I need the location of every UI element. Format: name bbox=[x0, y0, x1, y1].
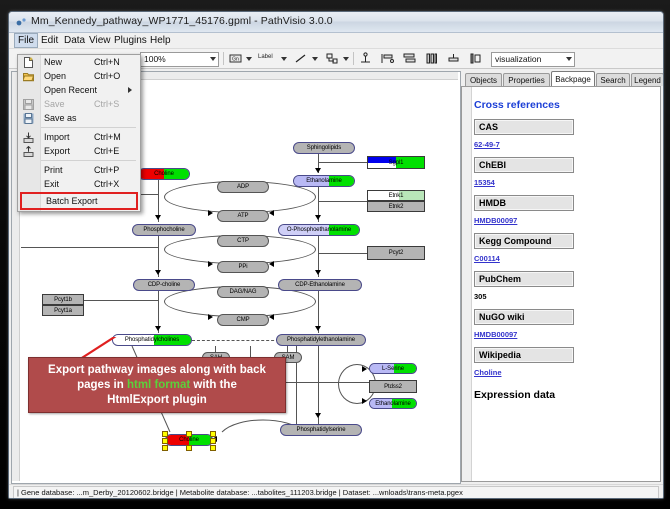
node-label: DAG/NAG bbox=[230, 289, 257, 295]
statusbar-text: | Gene database: ...m_Derby_20120602.bri… bbox=[13, 486, 659, 499]
side-panel-tabstrip: Objects Properties Backpage Search Legen… bbox=[461, 71, 661, 86]
node-label: Phosphocholine bbox=[143, 227, 184, 233]
node-label: CTP bbox=[237, 238, 249, 244]
annotation-callout: Export pathway images along with back pa… bbox=[28, 357, 286, 413]
node-label: Phosphatidylethanolamine bbox=[287, 337, 355, 343]
arrowhead bbox=[315, 413, 321, 418]
menu-item-exit-label: Exit bbox=[44, 179, 59, 189]
chevron-down-icon bbox=[210, 57, 216, 61]
open-folder-icon bbox=[23, 71, 34, 82]
svg-text:Gn: Gn bbox=[232, 57, 239, 63]
new-document-icon bbox=[23, 57, 34, 68]
menu-item-save-as[interactable]: Save as bbox=[18, 111, 140, 125]
annotation-line-2a: pages in bbox=[77, 379, 127, 391]
node-label: CMP bbox=[236, 317, 249, 323]
xref-db-wikipedia: Wikipedia bbox=[474, 347, 574, 363]
selection-handle[interactable] bbox=[210, 445, 216, 451]
visualization-value: visualization bbox=[495, 54, 541, 64]
gene-label: Etnk1 bbox=[389, 193, 404, 199]
arrowhead bbox=[269, 261, 274, 267]
menu-item-save: Save Ctrl+S bbox=[18, 97, 140, 111]
pathvisio-app-icon bbox=[15, 16, 27, 28]
edge-pc-pe-dashed bbox=[192, 340, 284, 341]
node-label: Sphingolipids bbox=[307, 145, 341, 151]
selection-handle[interactable] bbox=[162, 445, 168, 451]
edge-left-stub-2 bbox=[21, 247, 158, 248]
window-title: Mm_Kennedy_pathway_WP1771_45176.gpml - P… bbox=[31, 15, 333, 27]
arrowhead bbox=[208, 314, 213, 320]
gene-label: Pcyt1b bbox=[54, 297, 72, 303]
menu-item-new-label: New bbox=[44, 57, 62, 67]
distribute-tool-icon[interactable] bbox=[424, 51, 439, 66]
export-icon bbox=[23, 146, 34, 157]
arrowhead bbox=[315, 168, 321, 173]
node-label: L-Serine bbox=[382, 366, 404, 372]
backpage-content: Cross references CAS 62-49-7 ChEBI 15354… bbox=[461, 86, 661, 482]
gene-label: Etnk2 bbox=[389, 204, 404, 210]
gene-label: Sgpl1 bbox=[389, 160, 404, 166]
chevron-down-icon-2 bbox=[566, 57, 572, 61]
node-cdp-choline[interactable]: CDP-choline bbox=[133, 279, 195, 291]
edge-gene-etnk bbox=[318, 201, 367, 202]
menu-item-save-as-label: Save as bbox=[44, 113, 77, 123]
node-label: Phosphatidylserine bbox=[297, 427, 346, 433]
menu-item-export-label: Export bbox=[44, 146, 70, 156]
menu-item-import-shortcut: Ctrl+M bbox=[94, 132, 121, 142]
group-tool-icon[interactable] bbox=[446, 51, 461, 66]
zoom-value: 100% bbox=[144, 54, 166, 64]
label-tool-label[interactable]: Label bbox=[258, 54, 273, 60]
toolbar-separator-2 bbox=[353, 52, 354, 65]
arrowhead bbox=[362, 398, 367, 404]
node-label: CDP-choline bbox=[148, 282, 181, 288]
tab-objects[interactable]: Objects bbox=[465, 73, 502, 86]
xref-value-chebi[interactable]: 15354 bbox=[474, 178, 660, 187]
gene-etnk1[interactable]: Etnk1 bbox=[367, 190, 425, 201]
gene-pcyt2[interactable]: Pcyt2 bbox=[367, 246, 425, 260]
node-ppi[interactable]: PPi bbox=[217, 261, 269, 273]
node-phosphatidylethanolamine[interactable]: Phosphatidylethanolamine bbox=[276, 334, 366, 346]
menu-item-new[interactable]: New Ctrl+N bbox=[18, 55, 140, 69]
cross-references-heading: Cross references bbox=[474, 99, 660, 111]
arrowhead bbox=[269, 210, 274, 216]
arrowhead bbox=[315, 215, 321, 220]
line-tool-icon[interactable] bbox=[293, 51, 308, 66]
selection-handle[interactable] bbox=[186, 445, 192, 451]
xref-value-pubchem: 305 bbox=[474, 292, 660, 301]
zoom-combobox[interactable]: 100% bbox=[140, 52, 219, 67]
tab-search[interactable]: Search bbox=[596, 73, 630, 86]
datanode-tool-icon[interactable]: Gn bbox=[228, 51, 243, 66]
gene-label: Pcyt1a bbox=[54, 308, 72, 314]
align-stack-tool-icon[interactable] bbox=[402, 51, 417, 66]
import-icon bbox=[23, 132, 34, 143]
menu-file[interactable]: File bbox=[14, 33, 38, 48]
gene-label: Ptdss2 bbox=[384, 384, 402, 390]
arrowhead bbox=[155, 215, 161, 220]
gene-ptdss2[interactable]: Ptdss2 bbox=[369, 380, 417, 393]
node-dag-nag[interactable]: DAG/NAG bbox=[217, 286, 269, 298]
node-o-phosphoethanolamine[interactable]: O-Phosphoethanolamine bbox=[278, 224, 360, 236]
save-disk-icon bbox=[23, 99, 34, 110]
tab-backpage[interactable]: Backpage bbox=[551, 71, 595, 86]
menu-item-open-label: Open bbox=[44, 71, 66, 81]
statusbar: | Gene database: ...m_Derby_20120602.bri… bbox=[9, 484, 663, 499]
selection-handle[interactable] bbox=[210, 438, 216, 444]
datanode-dropdown-icon[interactable] bbox=[246, 57, 252, 61]
anchor-tool-icon[interactable] bbox=[358, 51, 373, 66]
annotation-line-2b: with the bbox=[190, 379, 237, 391]
menu-item-open[interactable]: Open Ctrl+O bbox=[18, 69, 140, 83]
menu-item-import-label: Import bbox=[44, 132, 70, 142]
edge-gene-pcyt2 bbox=[318, 253, 367, 254]
menubar: File Edit Data View Plugins Help bbox=[9, 33, 663, 49]
menu-item-import[interactable]: Import Ctrl+M bbox=[18, 130, 140, 144]
window-titlebar: Mm_Kennedy_pathway_WP1771_45176.gpml - P… bbox=[9, 12, 663, 33]
node-ethanolamine-2[interactable]: Ethanolamine bbox=[369, 398, 417, 409]
menu-item-open-recent-label: Open Recent bbox=[44, 85, 97, 95]
gene-pcyt1a[interactable]: Pcyt1a bbox=[42, 305, 84, 316]
node-sphingolipids[interactable]: Sphingolipids bbox=[293, 142, 355, 154]
arrowhead bbox=[362, 366, 367, 372]
cross-references-section: Cross references CAS 62-49-7 ChEBI 15354… bbox=[474, 87, 660, 401]
tab-properties[interactable]: Properties bbox=[503, 73, 550, 86]
node-label: ATP bbox=[238, 213, 249, 219]
screenshot-root: Mm_Kennedy_pathway_WP1771_45176.gpml - P… bbox=[0, 0, 670, 509]
backpage-scroll-gutter[interactable] bbox=[462, 87, 472, 481]
arrowhead bbox=[269, 314, 274, 320]
arrowhead bbox=[208, 261, 213, 267]
order-tool-icon[interactable] bbox=[468, 51, 483, 66]
node-atp[interactable]: ATP bbox=[217, 210, 269, 222]
file-menu-popup[interactable]: New Ctrl+N Open Ctrl+O Open Recent bbox=[17, 54, 141, 212]
selection-handle[interactable] bbox=[162, 438, 168, 444]
menu-item-exit-shortcut: Ctrl+X bbox=[94, 179, 119, 189]
save-as-icon bbox=[23, 113, 34, 124]
edge-gene-sgpl1 bbox=[318, 162, 367, 163]
xref-db-hmdb: HMDB bbox=[474, 195, 574, 211]
annotation-line-3: HtmlExport plugin bbox=[48, 393, 266, 408]
xref-value-kegg[interactable]: C00114 bbox=[474, 254, 660, 263]
visualization-combobox[interactable]: visualization bbox=[491, 52, 575, 67]
menu-item-new-shortcut: Ctrl+N bbox=[94, 57, 120, 67]
receptor-dropdown-icon[interactable] bbox=[343, 57, 349, 61]
menu-edit[interactable]: Edit bbox=[37, 34, 62, 47]
node-label: PPi bbox=[238, 264, 247, 270]
annotation-highlight: html format bbox=[127, 379, 190, 391]
edge-gene-pcyt1 bbox=[84, 300, 158, 301]
menu-item-export-shortcut: Ctrl+E bbox=[94, 146, 119, 156]
node-label: Choline bbox=[154, 171, 174, 177]
label-dropdown-icon[interactable] bbox=[281, 57, 287, 61]
menu-item-save-shortcut: Ctrl+S bbox=[94, 99, 119, 109]
pathvisio-window: Mm_Kennedy_pathway_WP1771_45176.gpml - P… bbox=[8, 11, 664, 499]
menu-item-open-recent[interactable]: Open Recent bbox=[18, 83, 140, 97]
xref-value-wikipedia[interactable]: Choline bbox=[474, 368, 660, 377]
arrowhead bbox=[315, 326, 321, 331]
node-label: Ethanolamine bbox=[375, 401, 411, 407]
tab-legend[interactable]: Legend bbox=[631, 73, 664, 86]
gene-sgpl1[interactable]: Sgpl1 bbox=[367, 156, 425, 169]
node-label: Choline bbox=[179, 437, 199, 443]
gene-pcyt1b[interactable]: Pcyt1b bbox=[42, 294, 84, 305]
arrowhead bbox=[315, 270, 321, 275]
submenu-arrow-icon bbox=[128, 87, 132, 93]
menu-item-open-shortcut: Ctrl+O bbox=[94, 71, 120, 81]
menu-item-print-label: Print bbox=[44, 165, 63, 175]
node-label: Ethanolamine bbox=[306, 178, 342, 184]
arrowhead bbox=[155, 270, 161, 275]
menu-item-print[interactable]: Print Ctrl+P bbox=[18, 163, 140, 177]
menu-item-batch-export-label: Batch Export bbox=[46, 196, 98, 206]
arrowhead bbox=[208, 210, 213, 216]
xref-value-hmdb[interactable]: HMDB00097 bbox=[474, 216, 660, 225]
side-panel: Objects Properties Backpage Search Legen… bbox=[461, 71, 661, 482]
gene-label: Pcyt2 bbox=[389, 250, 404, 256]
gene-etnk2[interactable]: Etnk2 bbox=[367, 201, 425, 212]
align-left-tool-icon[interactable] bbox=[380, 51, 395, 66]
xref-value-cas[interactable]: 62-49-7 bbox=[474, 140, 660, 149]
annotation-line-1: Export pathway images along with back bbox=[48, 363, 266, 378]
node-phosphatidylserine[interactable]: Phosphatidylserine bbox=[280, 424, 362, 436]
node-ethanolamine-1[interactable]: Ethanolamine bbox=[293, 175, 355, 187]
node-label: Phosphatidylcholines bbox=[125, 337, 179, 343]
node-label: O-Phosphoethanolamine bbox=[287, 227, 351, 233]
node-adp[interactable]: ADP bbox=[217, 181, 269, 193]
node-choline[interactable]: Choline bbox=[138, 168, 190, 180]
menu-item-save-label: Save bbox=[44, 99, 65, 109]
menu-item-exit[interactable]: Exit Ctrl+X bbox=[18, 177, 140, 191]
xref-db-pubchem: PubChem bbox=[474, 271, 574, 287]
menu-item-export[interactable]: Export Ctrl+E bbox=[18, 144, 140, 158]
node-label: ADP bbox=[237, 184, 249, 190]
node-ctp[interactable]: CTP bbox=[217, 235, 269, 247]
xref-value-nugo[interactable]: HMDB00097 bbox=[474, 330, 660, 339]
xref-db-chebi: ChEBI bbox=[474, 157, 574, 173]
node-cdp-ethanolamine[interactable]: CDP-Ethanolamine bbox=[278, 279, 362, 291]
menu-help[interactable]: Help bbox=[146, 34, 175, 47]
expression-data-heading: Expression data bbox=[474, 389, 660, 401]
node-cmp[interactable]: CMP bbox=[217, 314, 269, 326]
xref-db-kegg: Kegg Compound bbox=[474, 233, 574, 249]
toolbar-separator bbox=[223, 52, 224, 65]
xref-db-nugo: NuGO wiki bbox=[474, 309, 574, 325]
menu-item-print-shortcut: Ctrl+P bbox=[94, 165, 119, 175]
line-dropdown-icon[interactable] bbox=[312, 57, 318, 61]
selection-handle[interactable] bbox=[210, 431, 216, 437]
arrowhead bbox=[155, 326, 161, 331]
node-phosphocholine[interactable]: Phosphocholine bbox=[132, 224, 196, 236]
menu-plugins[interactable]: Plugins bbox=[110, 34, 151, 47]
selection-handle[interactable] bbox=[162, 431, 168, 437]
xref-db-cas: CAS bbox=[474, 119, 574, 135]
annotation-line-2: pages in html format with the bbox=[48, 378, 266, 393]
receptor-tool-icon[interactable] bbox=[324, 51, 339, 66]
node-l-serine[interactable]: L-Serine bbox=[369, 363, 417, 374]
menu-item-batch-export[interactable]: Batch Export bbox=[20, 192, 138, 210]
node-label: CDP-Ethanolamine bbox=[295, 282, 345, 288]
